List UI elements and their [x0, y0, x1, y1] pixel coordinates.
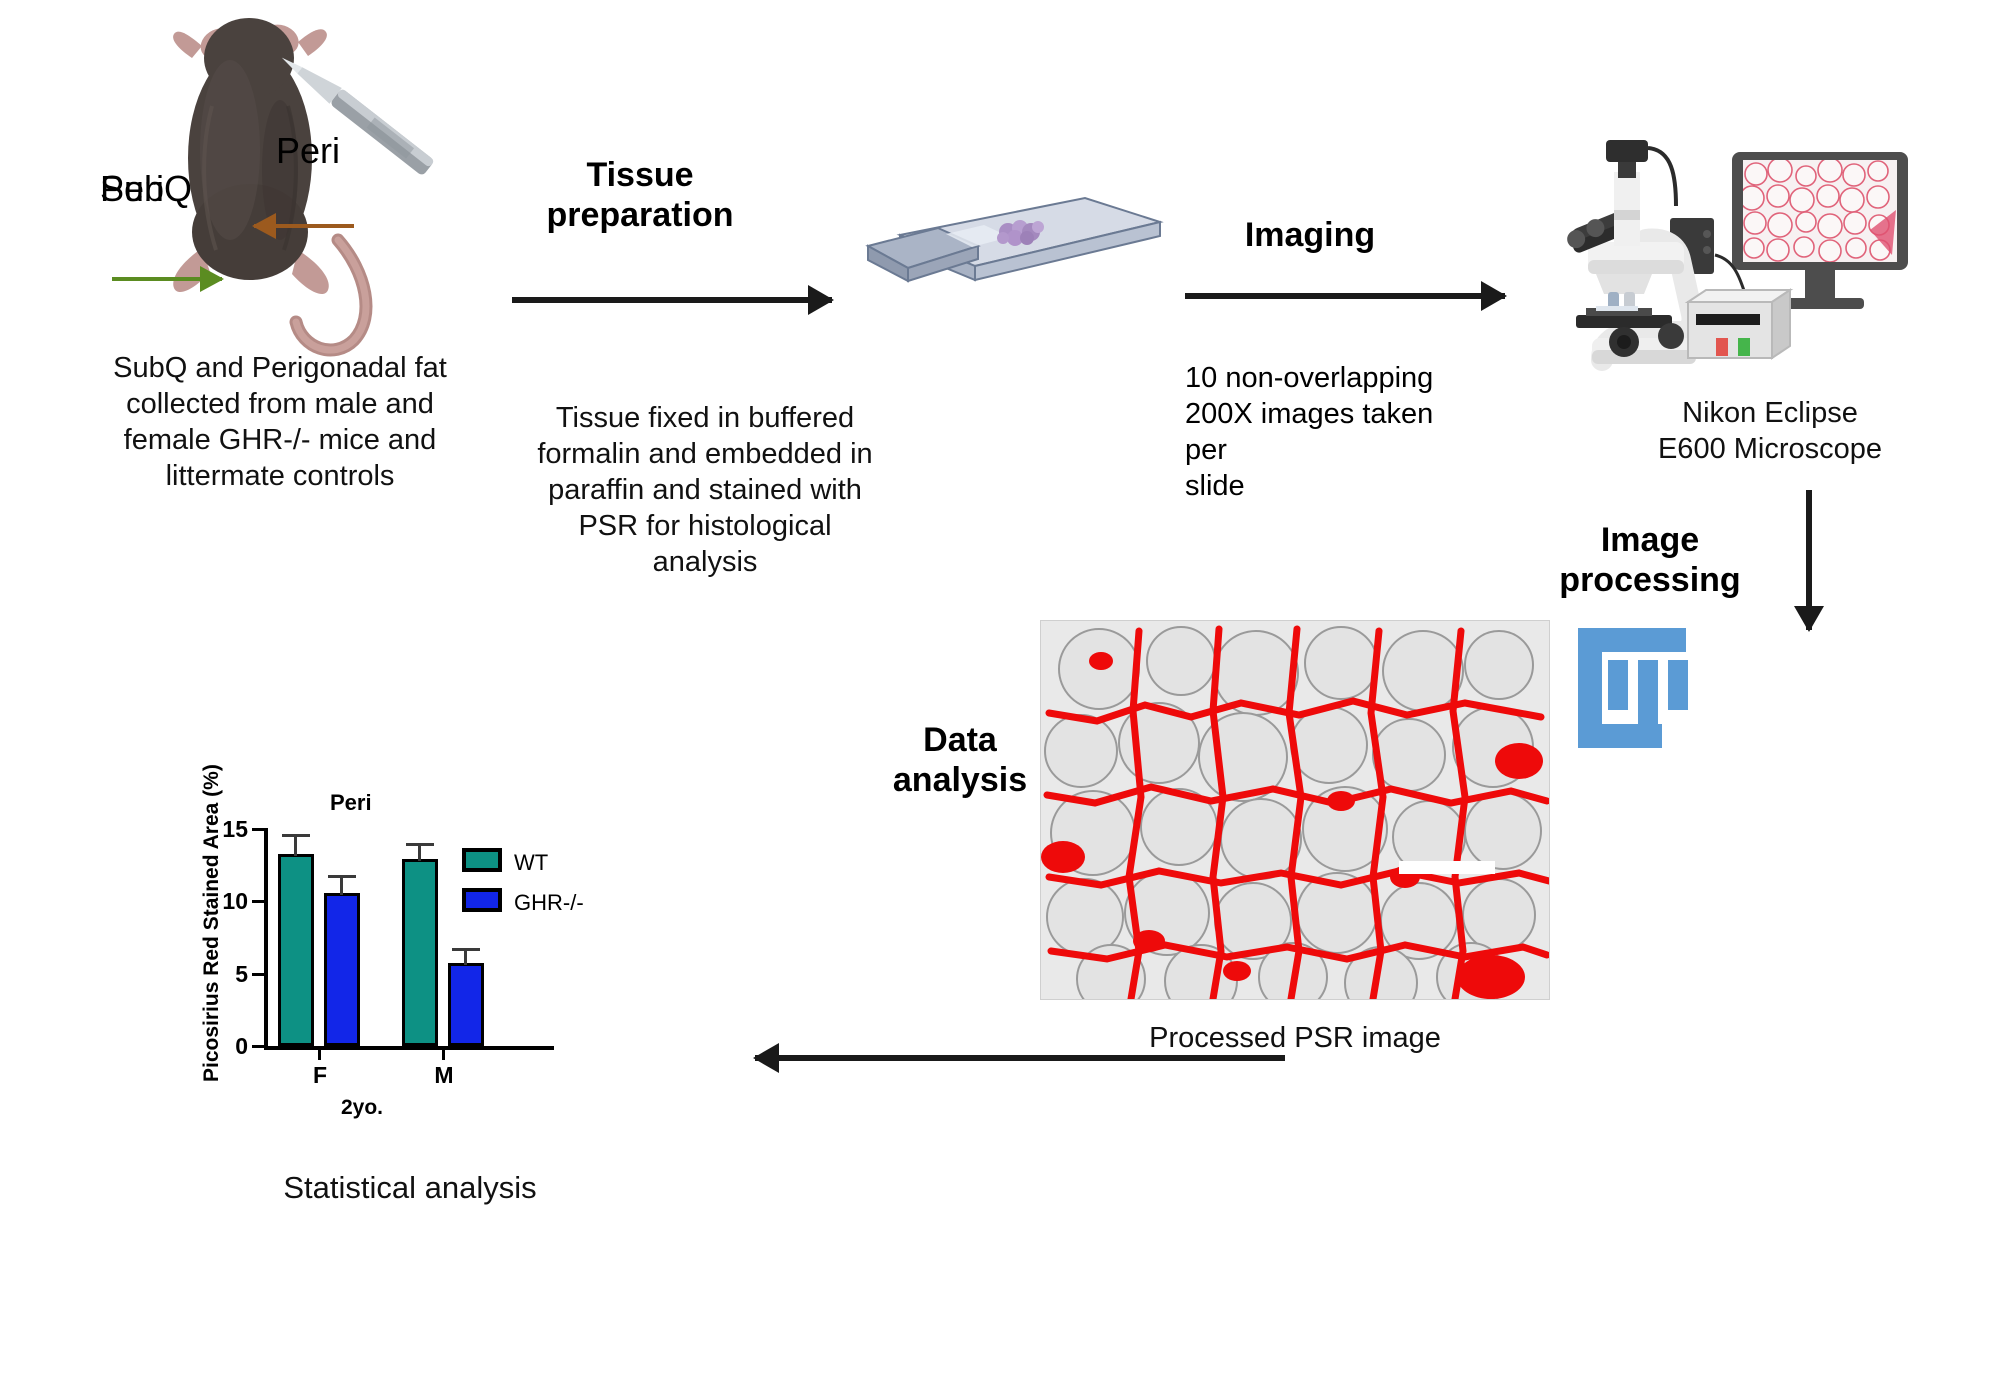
data-analysis-line2: analysis: [830, 760, 1090, 800]
errorcap-wt-m: [406, 843, 434, 846]
ytick-5: [252, 973, 266, 976]
slide-caption-line3: paraffin and stained with: [520, 472, 890, 508]
subq-arrow: [112, 277, 222, 281]
slide-caption-line2: formalin and embedded in: [520, 436, 890, 472]
step-imaging-label: Imaging: [1180, 215, 1440, 255]
image-processing-line1: Image: [1500, 520, 1800, 560]
chart-y-axis: [264, 828, 268, 1050]
bar-wt-f: [278, 854, 314, 1046]
tissue-prep-line2: preparation: [490, 195, 790, 235]
step-data-analysis-label: Data analysis: [830, 720, 1090, 800]
bar-chart: Picosirius Red Stained Area (%) Peri 15 …: [190, 790, 650, 1120]
imaging-text: Imaging: [1245, 216, 1375, 254]
microscope-caption-line1: Nikon Eclipse: [1600, 395, 1940, 431]
ytick-label-15: 15: [204, 816, 248, 843]
mouse-caption-line3: female GHR-/- mice and: [80, 422, 480, 458]
ytick-10: [252, 900, 266, 903]
chart-title: Peri: [330, 790, 372, 816]
imaging-note: 10 non-overlapping 200X images taken per…: [1185, 360, 1515, 504]
errorcap-ghr-f: [328, 875, 356, 878]
ytick-label-5: 5: [204, 961, 248, 988]
arrow-tissue-preparation: [512, 297, 832, 303]
chart-x-axis: [264, 1046, 554, 1050]
errorcap-ghr-m: [452, 948, 480, 951]
fiji-imagej-logo-icon: [1570, 620, 1740, 780]
slide-caption-line1: Tissue fixed in buffered: [520, 400, 890, 436]
errorbar-wt-f: [294, 834, 297, 856]
bar-wt-m: [402, 859, 438, 1046]
errorcap-wt-f: [282, 834, 310, 837]
imaging-note-line3: per: [1185, 432, 1515, 468]
ytick-0: [252, 1045, 266, 1048]
slide-caption: Tissue fixed in buffered formalin and em…: [520, 400, 890, 580]
legend-label-ghr: GHR-/-: [514, 890, 584, 916]
slide-caption-line4: PSR for histological: [520, 508, 890, 544]
xtick-m: [442, 1048, 445, 1060]
ytick-label-0: 0: [204, 1033, 248, 1060]
microscope-caption-line2: E600 Microscope: [1600, 431, 1940, 467]
arrow-image-processing: [1806, 490, 1812, 630]
errorbar-ghr-f: [340, 875, 343, 895]
arrow-data-analysis: [755, 1055, 1285, 1061]
mouse-caption-line2: collected from male and: [80, 386, 480, 422]
processed-image-caption: Processed PSR image: [1040, 1020, 1550, 1056]
mouse-caption: SubQ and Perigonadal fat collected from …: [80, 350, 480, 494]
imaging-note-line1: 10 non-overlapping: [1185, 360, 1515, 396]
tissue-prep-line1: Tissue: [490, 155, 790, 195]
step-image-processing-label: Image processing: [1500, 520, 1800, 600]
image-processing-line2: processing: [1500, 560, 1800, 600]
legend-swatch-ghr: [462, 888, 502, 912]
mouse-caption-line1: SubQ and Perigonadal fat: [80, 350, 480, 386]
legend-label-wt: WT: [514, 850, 548, 876]
chart-xlabel: 2yo.: [282, 1096, 442, 1120]
step-tissue-preparation-label: Tissue preparation: [490, 155, 790, 235]
xtick-label-f: F: [296, 1062, 344, 1089]
mouse-caption-line4: littermate controls: [80, 458, 480, 494]
xtick-label-m: M: [420, 1062, 468, 1089]
subq-text: SubQ: [100, 168, 192, 210]
imaging-note-line2: 200X images taken: [1185, 396, 1515, 432]
peri-arrow: [254, 224, 354, 228]
microscope-caption: Nikon Eclipse E600 Microscope: [1600, 395, 1940, 467]
microscope-illustration: [1540, 110, 1980, 390]
slide-caption-line5: analysis: [520, 544, 890, 580]
data-analysis-line1: Data: [830, 720, 1090, 760]
peri-text: Peri: [276, 130, 340, 172]
microscope-slide-illustration: [860, 180, 1170, 310]
legend-swatch-wt: [462, 848, 502, 872]
ytick-label-10: 10: [204, 888, 248, 915]
ytick-15: [252, 828, 266, 831]
bar-ghr-m: [448, 963, 484, 1046]
arrow-imaging: [1185, 293, 1505, 299]
processed-psr-image: [1040, 620, 1550, 1000]
bar-ghr-f: [324, 893, 360, 1046]
statistical-analysis-caption: Statistical analysis: [190, 1170, 630, 1206]
imaging-note-line4: slide: [1185, 468, 1515, 504]
xtick-f: [318, 1048, 321, 1060]
